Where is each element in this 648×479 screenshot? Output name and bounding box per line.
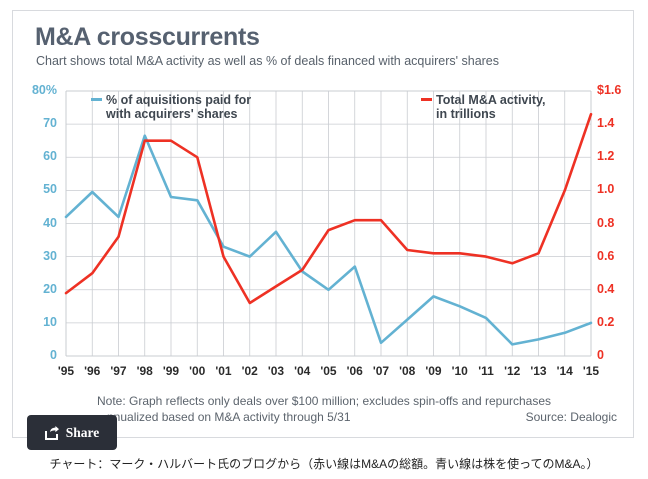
y-axis-right-tick: 0 bbox=[597, 348, 641, 362]
chart-source: Source: Dealogic bbox=[526, 410, 617, 424]
image-caption: チャート：マーク・ハルバート氏のブログから（赤い線はM&Aの総額。青い線は株を使… bbox=[0, 455, 648, 472]
y-axis-right-tick: $1.6 bbox=[597, 83, 641, 97]
x-axis-tick: '14 bbox=[557, 364, 573, 378]
x-axis-tick: '95 bbox=[58, 364, 74, 378]
legend-entry-blue: % of aquisitions paid for with acquirers… bbox=[91, 93, 251, 121]
x-axis-tick: '01 bbox=[215, 364, 231, 378]
y-axis-left-tick: 20 bbox=[13, 282, 57, 296]
chart-note-1: Note: Graph reflects only deals over $10… bbox=[13, 394, 635, 408]
x-axis-tick: '08 bbox=[399, 364, 415, 378]
y-axis-left-tick: 80% bbox=[13, 83, 57, 97]
y-axis-right-tick: 0.4 bbox=[597, 282, 641, 296]
y-axis-left-tick: 10 bbox=[13, 315, 57, 329]
y-axis-right-tick: 0.2 bbox=[597, 315, 641, 329]
y-axis-left-tick: 40 bbox=[13, 216, 57, 230]
x-axis-tick: '05 bbox=[320, 364, 336, 378]
y-axis-left-tick: 70 bbox=[13, 116, 57, 130]
x-axis-tick: '02 bbox=[242, 364, 258, 378]
x-axis-tick: '06 bbox=[347, 364, 363, 378]
y-axis-right-tick: 0.8 bbox=[597, 216, 641, 230]
share-button[interactable]: Share bbox=[27, 415, 117, 450]
legend-swatch-red bbox=[421, 98, 432, 101]
x-axis-tick: '07 bbox=[373, 364, 389, 378]
share-button-label: Share bbox=[66, 425, 100, 441]
chart-page: M&A crosscurrents Chart shows total M&A … bbox=[0, 0, 648, 479]
legend-red-line2: in trillions bbox=[436, 107, 546, 121]
x-axis-tick: '97 bbox=[110, 364, 126, 378]
y-axis-left-tick: 30 bbox=[13, 249, 57, 263]
y-axis-right-tick: 0.6 bbox=[597, 249, 641, 263]
y-axis-right-tick: 1.4 bbox=[597, 116, 641, 130]
y-axis-left-tick: 0 bbox=[13, 348, 57, 362]
chart-card: M&A crosscurrents Chart shows total M&A … bbox=[12, 10, 634, 438]
x-axis-tick: '00 bbox=[189, 364, 205, 378]
chart-note-2: nnualized based on M&A activity through … bbox=[107, 410, 351, 424]
x-axis-tick: '10 bbox=[452, 364, 468, 378]
y-axis-right-tick: 1.0 bbox=[597, 182, 641, 196]
x-axis-tick: '15 bbox=[583, 364, 599, 378]
x-axis-tick: '11 bbox=[478, 364, 494, 378]
legend-blue-line2: with acquirers' shares bbox=[106, 107, 251, 121]
legend-entry-red: Total M&A activity, in trillions bbox=[421, 93, 546, 121]
y-axis-left-tick: 60 bbox=[13, 149, 57, 163]
plot-area: 01020304050607080% 00.20.40.60.81.01.21.… bbox=[13, 11, 635, 439]
x-axis-tick: '98 bbox=[137, 364, 153, 378]
x-axis-tick: '99 bbox=[163, 364, 179, 378]
share-icon bbox=[45, 426, 60, 440]
x-axis-tick: '13 bbox=[530, 364, 546, 378]
x-axis-tick: '12 bbox=[504, 364, 520, 378]
y-axis-left-tick: 50 bbox=[13, 182, 57, 196]
x-axis-tick: '04 bbox=[294, 364, 310, 378]
y-axis-right-tick: 1.2 bbox=[597, 149, 641, 163]
x-axis-tick: '03 bbox=[268, 364, 284, 378]
legend-red-line1: Total M&A activity, bbox=[436, 93, 546, 107]
legend-swatch-blue bbox=[91, 98, 102, 101]
x-axis-tick: '09 bbox=[425, 364, 441, 378]
x-axis-tick: '96 bbox=[84, 364, 100, 378]
legend-blue-line1: % of aquisitions paid for bbox=[106, 93, 251, 107]
